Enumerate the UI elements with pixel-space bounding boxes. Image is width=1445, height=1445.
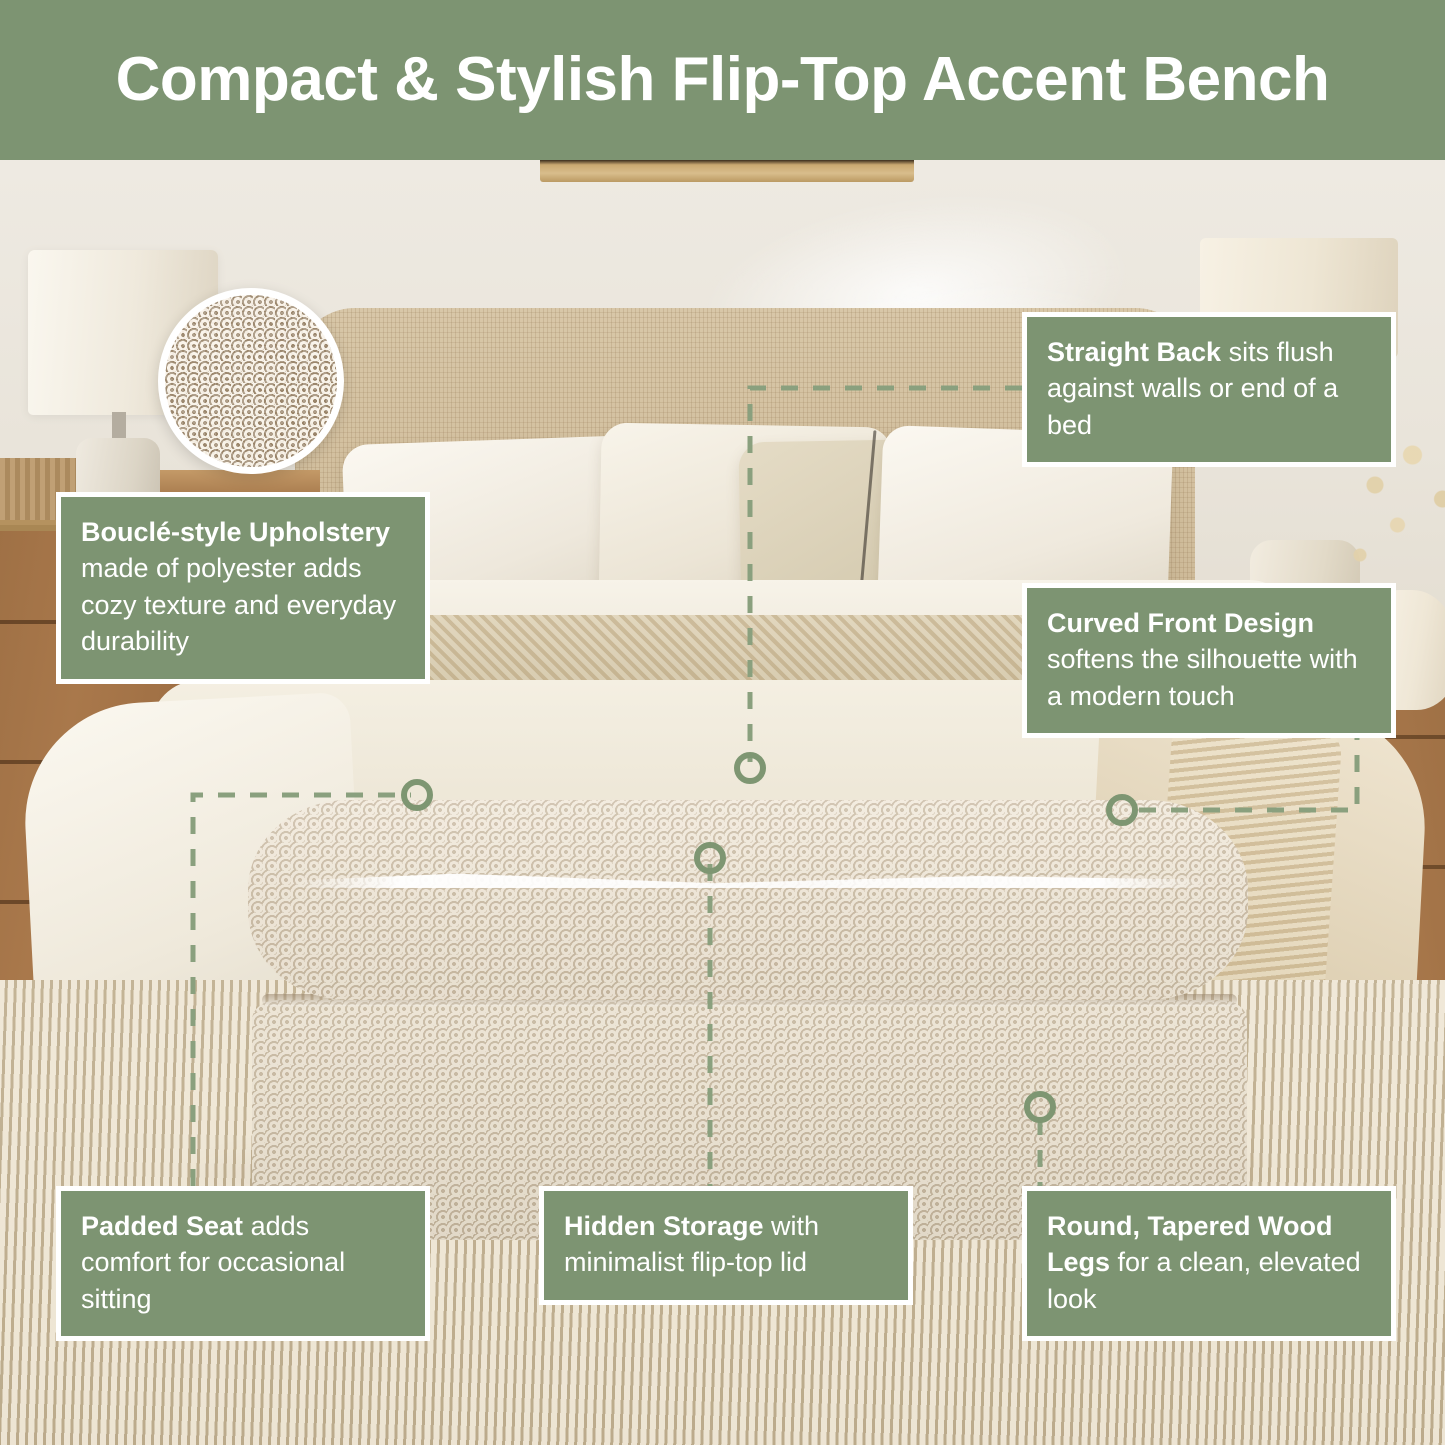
callout-curved-front-title: Curved Front Design (1047, 608, 1314, 638)
callout-curved-front-body: softens the silhouette with a modern tou… (1047, 644, 1358, 710)
callout-straight-back: Straight Back sits flush against walls o… (1022, 312, 1396, 467)
callout-upholstery-title: Bouclé-style Upholstery (81, 517, 390, 547)
page-title: Compact & Stylish Flip-Top Accent Bench (116, 49, 1330, 111)
infographic-canvas: Compact & Stylish Flip-Top Accent Bench (0, 0, 1445, 1445)
callout-padded-seat: Padded Seat adds comfort for occasional … (56, 1186, 430, 1341)
header-band: Compact & Stylish Flip-Top Accent Bench (0, 0, 1445, 160)
callout-straight-back-title: Straight Back (1047, 337, 1221, 367)
callout-curved-front: Curved Front Design softens the silhouet… (1022, 583, 1396, 738)
flip-top-lid (248, 800, 1248, 1000)
callout-upholstery: Bouclé-style Upholstery made of polyeste… (56, 492, 430, 684)
callout-hidden-storage: Hidden Storage with minimalist flip-top … (539, 1186, 913, 1305)
callout-wood-legs: Round, Tapered Wood Legs for a clean, el… (1022, 1186, 1396, 1341)
callout-hidden-storage-title: Hidden Storage (564, 1211, 764, 1241)
boucle-fabric-closeup-icon (158, 288, 344, 474)
callout-padded-seat-title: Padded Seat (81, 1211, 243, 1241)
callout-upholstery-body: made of polyester adds cozy texture and … (81, 553, 396, 656)
